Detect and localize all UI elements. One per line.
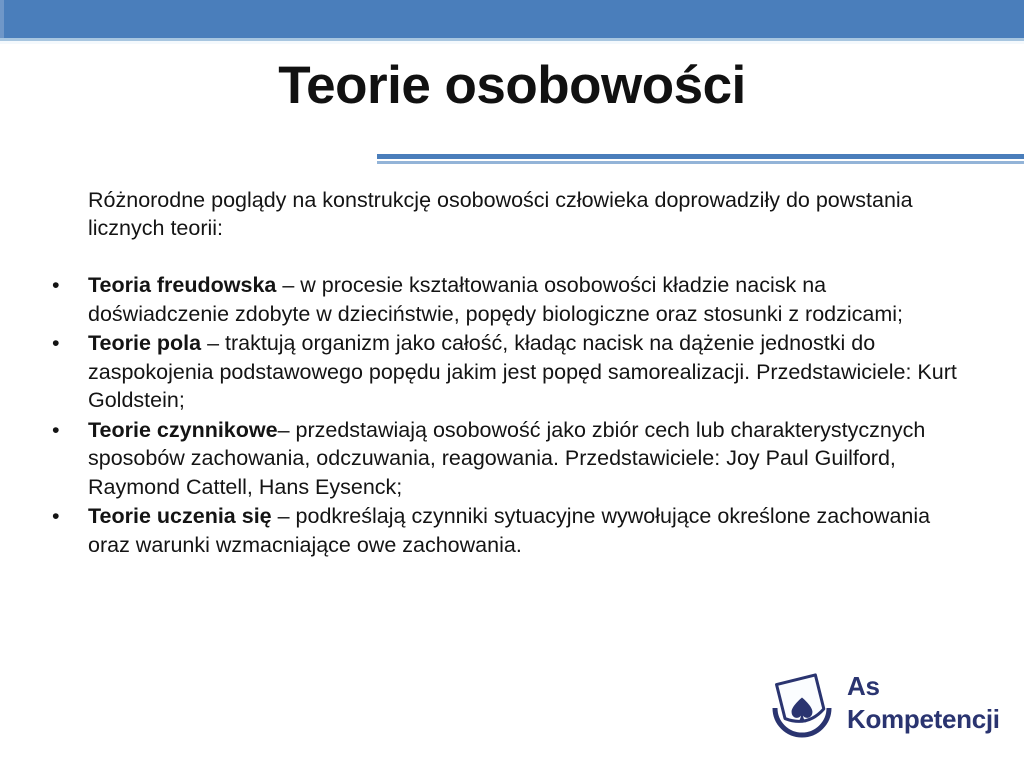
slide-canvas: Teorie osobowości Różnorodne poglądy na … (0, 0, 1024, 768)
intro-paragraph: Różnorodne poglądy na konstrukcję osobow… (88, 186, 948, 242)
list-item-lead: Teorie czynnikowe (88, 418, 278, 442)
list-item-lead: Teoria freudowska (88, 273, 276, 297)
top-accent-band (0, 0, 1024, 38)
spade-card-icon (765, 670, 839, 744)
list-item: •Teorie pola – traktują organizm jako ca… (50, 329, 970, 415)
list-item-lead: Teorie pola (88, 331, 201, 355)
theories-bullet-list: •Teoria freudowska – w procesie kształto… (50, 271, 970, 559)
list-item: •Teorie czynnikowe– przedstawiają osobow… (50, 416, 970, 502)
top-accent-underline-secondary (0, 41, 1024, 44)
top-accent-band-left-edge (0, 0, 4, 38)
list-item-lead: Teorie uczenia się (88, 504, 272, 528)
title-divider-rule-light (377, 161, 1024, 164)
list-item-text: – traktują organizm jako całość, kładąc … (88, 331, 957, 412)
logo-line-1: As (847, 670, 1015, 703)
logo-line-2: Kompetencji (847, 703, 1015, 736)
list-item: •Teoria freudowska – w procesie kształto… (50, 271, 970, 328)
bullet-marker-icon: • (52, 271, 60, 300)
list-item: •Teorie uczenia się – podkreślają czynni… (50, 502, 970, 559)
bullet-marker-icon: • (52, 329, 60, 358)
page-title: Teorie osobowości (0, 58, 1024, 114)
bullet-marker-icon: • (52, 416, 60, 445)
logo: As Kompetencji (765, 668, 1011, 754)
bullet-marker-icon: • (52, 502, 60, 531)
logo-wordmark: As Kompetencji (847, 670, 1015, 736)
slide-body: Różnorodne poglądy na konstrukcję osobow… (50, 186, 970, 560)
